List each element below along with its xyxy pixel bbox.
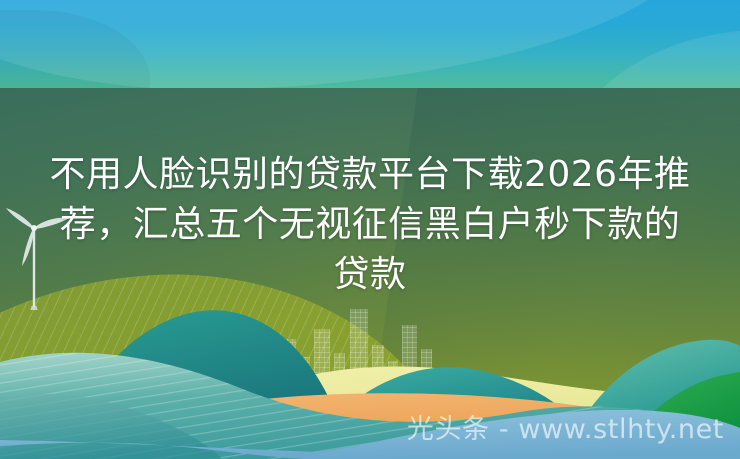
watermark-text: 光头条 - www.stlhty.net — [407, 415, 724, 445]
page-title: 不用人脸识别的贷款平台下载2026年推荐，汇总五个无视征信黑白户秒下款的贷款 — [0, 150, 740, 300]
poster-canvas: 不用人脸识别的贷款平台下载2026年推荐，汇总五个无视征信黑白户秒下款的贷款 光… — [0, 0, 740, 459]
